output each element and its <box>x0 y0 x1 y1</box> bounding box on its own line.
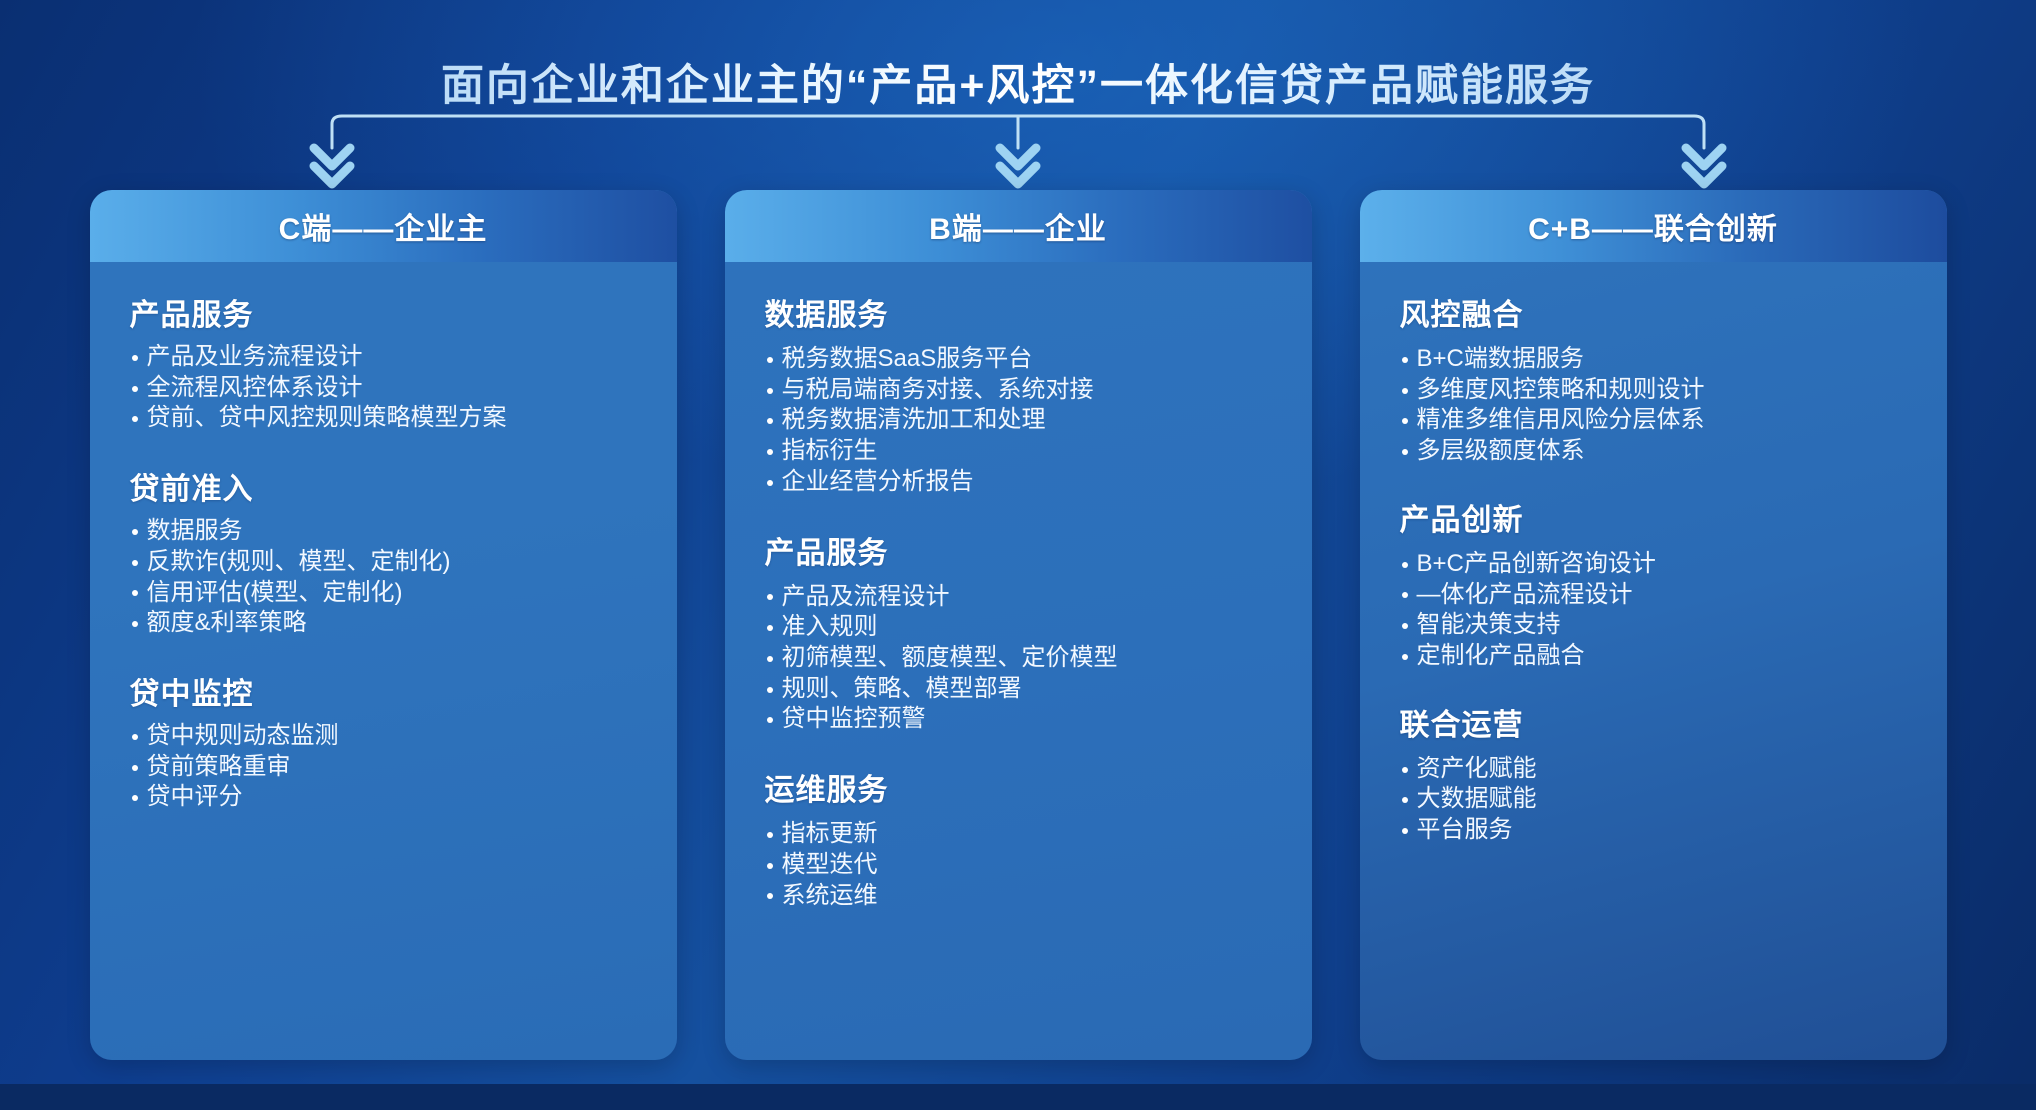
group-item-list: 资产化赋能 大数据赋能 平台服务 <box>1400 754 1921 846</box>
list-item: 指标更新 <box>765 819 1286 850</box>
list-item: 初筛模型、额度模型、定价模型 <box>765 643 1286 674</box>
list-item: 税务数据清洗加工和处理 <box>765 405 1286 436</box>
group-title: 贷中监控 <box>130 669 651 713</box>
list-item: 贷前策略重审 <box>130 752 651 783</box>
group-item-list: B+C端数据服务 多维度风控策略和规则设计 精准多维信用风险分层体系 多层级额度… <box>1400 344 1921 467</box>
group-item-list: 产品及业务流程设计 全流程风控体系设计 贷前、贷中风控规则策略模型方案 <box>130 342 651 434</box>
group-title: 联合运营 <box>1400 700 1921 744</box>
group-block: 产品服务 产品及流程设计 准入规则 初筛模型、额度模型、定价模型 规则、策略、模… <box>765 528 1286 736</box>
group-item-list: 贷中规则动态监测 贷前策略重审 贷中评分 <box>130 721 651 813</box>
list-item: 定制化产品融合 <box>1400 641 1921 672</box>
group-block: 产品服务 产品及业务流程设计 全流程风控体系设计 贷前、贷中风控规则策略模型方案 <box>130 290 651 434</box>
group-item-list: 数据服务 反欺诈(规则、模型、定制化) 信用评估(模型、定制化) 额度&利率策略 <box>130 516 651 639</box>
group-block: 联合运营 资产化赋能 大数据赋能 平台服务 <box>1400 700 1921 846</box>
double-chevron-down-icon <box>314 166 350 184</box>
list-item: 模型迭代 <box>765 850 1286 881</box>
list-item: 贷中评分 <box>130 782 651 813</box>
list-item: 贷前、贷中风控规则策略模型方案 <box>130 403 651 434</box>
list-item: 信用评估(模型、定制化) <box>130 578 651 609</box>
column-header-label: C端——企业主 <box>279 204 488 248</box>
list-item: 企业经营分析报告 <box>765 467 1286 498</box>
slide-canvas: 面向企业和企业主的“产品+风控”一体化信贷产品赋能服务 C端——企业主 <box>0 0 2036 1110</box>
list-item: 产品及流程设计 <box>765 582 1286 613</box>
column-header-c-end: C端——企业主 <box>90 190 677 262</box>
group-item-list: 指标更新 模型迭代 系统运维 <box>765 819 1286 911</box>
group-item-list: 产品及流程设计 准入规则 初筛模型、额度模型、定价模型 规则、策略、模型部署 贷… <box>765 582 1286 736</box>
columns-container: C端——企业主 产品服务 产品及业务流程设计 全流程风控体系设计 贷前、贷中风控… <box>0 190 2036 1060</box>
group-block: 风控融合 B+C端数据服务 多维度风控策略和规则设计 精准多维信用风险分层体系 … <box>1400 290 1921 467</box>
group-item-list: B+C产品创新咨询设计 —体化产品流程设计 智能决策支持 定制化产品融合 <box>1400 549 1921 672</box>
column-c-plus-b[interactable]: C+B——联合创新 风控融合 B+C端数据服务 多维度风控策略和规则设计 精准多… <box>1360 190 1947 1060</box>
list-item: 准入规则 <box>765 612 1286 643</box>
group-block: 运维服务 指标更新 模型迭代 系统运维 <box>765 765 1286 911</box>
column-header-label: C+B——联合创新 <box>1528 204 1778 248</box>
list-item: 多层级额度体系 <box>1400 436 1921 467</box>
list-item: 全流程风控体系设计 <box>130 373 651 404</box>
list-item: 与税局端商务对接、系统对接 <box>765 375 1286 406</box>
list-item: 规则、策略、模型部署 <box>765 674 1286 705</box>
list-item: 产品及业务流程设计 <box>130 342 651 373</box>
list-item: —体化产品流程设计 <box>1400 580 1921 611</box>
column-header-b-end: B端——企业 <box>725 190 1312 262</box>
list-item: 数据服务 <box>130 516 651 547</box>
group-title: 产品创新 <box>1400 495 1921 539</box>
column-header-label: B端——企业 <box>929 204 1107 248</box>
column-body-b-end: 数据服务 税务数据SaaS服务平台 与税局端商务对接、系统对接 税务数据清洗加工… <box>725 262 1312 951</box>
double-chevron-down-icon <box>1686 148 1722 166</box>
page-title-container: 面向企业和企业主的“产品+风控”一体化信贷产品赋能服务 <box>0 22 2036 142</box>
double-chevron-down-icon <box>314 148 350 166</box>
list-item: 指标衍生 <box>765 436 1286 467</box>
group-block: 贷前准入 数据服务 反欺诈(规则、模型、定制化) 信用评估(模型、定制化) 额度… <box>130 464 651 639</box>
column-body-c-plus-b: 风控融合 B+C端数据服务 多维度风控策略和规则设计 精准多维信用风险分层体系 … <box>1360 262 1947 884</box>
group-title: 风控融合 <box>1400 290 1921 334</box>
column-c-end[interactable]: C端——企业主 产品服务 产品及业务流程设计 全流程风控体系设计 贷前、贷中风控… <box>90 190 677 1060</box>
column-header-c-plus-b: C+B——联合创新 <box>1360 190 1947 262</box>
list-item: 大数据赋能 <box>1400 784 1921 815</box>
group-title: 产品服务 <box>765 528 1286 572</box>
list-item: 平台服务 <box>1400 815 1921 846</box>
list-item: 税务数据SaaS服务平台 <box>765 344 1286 375</box>
double-chevron-down-icon <box>1686 166 1722 184</box>
list-item: 资产化赋能 <box>1400 754 1921 785</box>
list-item: 额度&利率策略 <box>130 608 651 639</box>
list-item: 系统运维 <box>765 881 1286 912</box>
list-item: B+C产品创新咨询设计 <box>1400 549 1921 580</box>
list-item: B+C端数据服务 <box>1400 344 1921 375</box>
list-item: 智能决策支持 <box>1400 610 1921 641</box>
group-title: 运维服务 <box>765 765 1286 809</box>
list-item: 反欺诈(规则、模型、定制化) <box>130 547 651 578</box>
list-item: 精准多维信用风险分层体系 <box>1400 405 1921 436</box>
double-chevron-down-icon <box>1000 166 1036 184</box>
double-chevron-down-icon <box>1000 148 1036 166</box>
group-title: 产品服务 <box>130 290 651 334</box>
list-item: 贷中规则动态监测 <box>130 721 651 752</box>
column-b-end[interactable]: B端——企业 数据服务 税务数据SaaS服务平台 与税局端商务对接、系统对接 税… <box>725 190 1312 1060</box>
group-title: 贷前准入 <box>130 464 651 508</box>
group-block: 数据服务 税务数据SaaS服务平台 与税局端商务对接、系统对接 税务数据清洗加工… <box>765 290 1286 498</box>
column-body-c-end: 产品服务 产品及业务流程设计 全流程风控体系设计 贷前、贷中风控规则策略模型方案… <box>90 262 677 853</box>
group-block: 产品创新 B+C产品创新咨询设计 —体化产品流程设计 智能决策支持 定制化产品融… <box>1400 495 1921 672</box>
group-title: 数据服务 <box>765 290 1286 334</box>
list-item: 多维度风控策略和规则设计 <box>1400 375 1921 406</box>
group-item-list: 税务数据SaaS服务平台 与税局端商务对接、系统对接 税务数据清洗加工和处理 指… <box>765 344 1286 498</box>
list-item: 贷中监控预警 <box>765 704 1286 735</box>
page-title: 面向企业和企业主的“产品+风控”一体化信贷产品赋能服务 <box>441 51 1595 113</box>
group-block: 贷中监控 贷中规则动态监测 贷前策略重审 贷中评分 <box>130 669 651 813</box>
